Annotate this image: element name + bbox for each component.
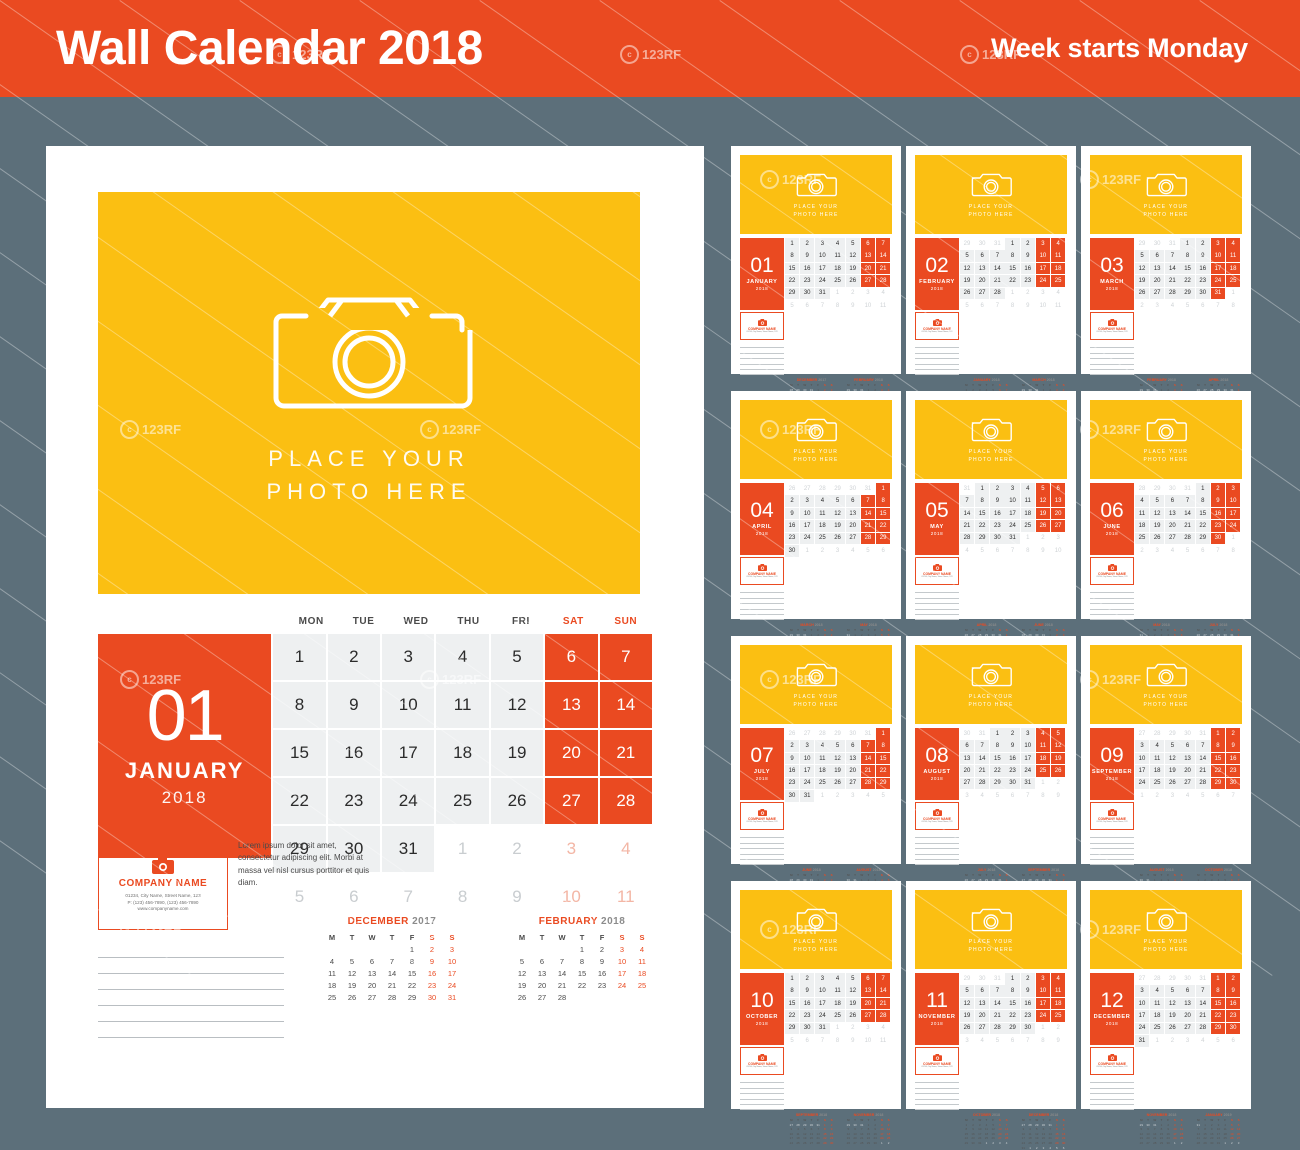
day-cell[interactable]: 29 [1196,533,1210,545]
day-cell[interactable]: 24 [1005,520,1019,532]
mini-day-cell[interactable]: 28 [858,1141,865,1146]
photo-placeholder[interactable]: PLACE YOURPHOTO HERE [740,890,892,969]
day-cell[interactable]: 2 [1226,973,1240,985]
photo-placeholder[interactable]: PLACE YOURPHOTO HERE [915,155,1067,234]
day-cell[interactable]: 1 [1005,238,1019,250]
mini-day-cell[interactable]: 1 [1172,1141,1179,1146]
day-cell[interactable]: 3 [1150,300,1164,312]
day-cell[interactable]: 17 [1211,263,1225,275]
day-cell[interactable]: 30 [1021,1023,1035,1035]
day-cell[interactable]: 9 [1051,790,1065,802]
day-cell[interactable]: 26 [491,778,543,824]
mini-day-cell[interactable]: 3 [1040,1145,1047,1150]
day-cell[interactable]: 2 [1021,973,1035,985]
day-cell[interactable]: 7 [1226,790,1240,802]
mini-day-cell[interactable]: 2 [990,1141,997,1146]
day-cell[interactable]: 10 [1135,753,1149,765]
day-cell[interactable]: 5 [960,985,974,997]
mini-day-cell[interactable]: 5 [1054,1145,1061,1150]
day-cell[interactable]: 9 [1021,300,1035,312]
day-cell[interactable]: 23 [1021,275,1035,287]
day-cell[interactable]: 21 [1180,520,1194,532]
mini-day-cell[interactable]: 20 [362,979,382,991]
day-cell[interactable]: 22 [785,1010,799,1022]
day-cell[interactable]: 8 [1180,250,1194,262]
mini-day-cell[interactable]: 26 [845,1141,852,1146]
day-cell[interactable]: 4 [1150,740,1164,752]
mini-day-cell[interactable]: 4 [322,955,342,967]
note-lines[interactable] [1090,1078,1134,1110]
note-line[interactable] [1090,615,1134,620]
day-cell[interactable]: 24 [1135,778,1149,790]
day-cell[interactable]: 19 [846,263,860,275]
day-cell[interactable]: 2 [1005,728,1019,740]
day-cell[interactable]: 8 [785,985,799,997]
day-cell[interactable]: 1 [815,790,829,802]
mini-day-cell[interactable]: 27 [532,991,552,1003]
day-cell[interactable]: 31 [1196,728,1210,740]
day-cell[interactable]: 13 [1150,263,1164,275]
mini-day-cell[interactable]: 2 [1229,1141,1236,1146]
day-cell[interactable]: 12 [491,682,543,728]
note-line[interactable] [915,1105,959,1110]
day-cell[interactable]: 27 [800,728,814,740]
day-cell[interactable]: 5 [1196,790,1210,802]
day-cell[interactable]: 6 [1051,483,1065,495]
day-cell[interactable]: 30 [800,288,814,300]
day-cell[interactable]: 26 [1150,533,1164,545]
day-cell[interactable]: 5 [990,790,1004,802]
note-line[interactable] [915,370,959,375]
day-cell[interactable]: 20 [1051,508,1065,520]
day-cell[interactable]: 5 [1051,728,1065,740]
day-cell[interactable]: 25 [815,533,829,545]
day-cell[interactable]: 22 [876,520,890,532]
mini-day-cell[interactable]: 26 [1138,1141,1145,1146]
day-cell[interactable]: 12 [960,998,974,1010]
mini-day-cell[interactable]: 2 [1033,1145,1040,1150]
day-cell[interactable]: 7 [1211,300,1225,312]
mini-day-cell[interactable]: 21 [382,979,402,991]
mini-day-cell[interactable]: 3 [442,943,462,955]
day-cell[interactable]: 29 [830,483,844,495]
day-cell[interactable]: 5 [1036,483,1050,495]
day-cell[interactable]: 12 [830,753,844,765]
mini-day-cell[interactable]: 30 [1208,1141,1215,1146]
mini-day-cell[interactable]: 19 [512,979,532,991]
day-cell[interactable]: 9 [1211,495,1225,507]
day-cell[interactable]: 1 [830,288,844,300]
mini-day-cell[interactable]: 17 [442,967,462,979]
day-cell[interactable]: 23 [1021,1010,1035,1022]
day-cell[interactable]: 7 [861,495,875,507]
day-cell[interactable]: 10 [800,753,814,765]
mini-day-cell[interactable] [362,943,382,955]
day-cell[interactable]: 10 [382,682,434,728]
day-cell[interactable]: 20 [861,263,875,275]
day-cell[interactable]: 6 [846,495,860,507]
day-cell[interactable]: 8 [785,250,799,262]
day-cell[interactable]: 13 [1051,495,1065,507]
day-cell[interactable]: 10 [861,1035,875,1047]
day-cell[interactable]: 28 [1165,288,1179,300]
mini-day-cell[interactable]: 7 [382,955,402,967]
day-cell[interactable]: 16 [785,520,799,532]
month-thumbnail-february[interactable]: PLACE YOURPHOTO HERE02FEBRUARY2018COMPAN… [906,146,1076,374]
day-cell[interactable]: 8 [830,300,844,312]
mini-day-cell[interactable]: 28 [552,991,572,1003]
day-cell[interactable]: 21 [990,275,1004,287]
day-cell[interactable]: 14 [1196,998,1210,1010]
day-cell[interactable]: 17 [1036,998,1050,1010]
mini-day-cell[interactable]: 8 [572,955,592,967]
day-cell[interactable]: 6 [1196,545,1210,557]
day-cell[interactable]: 5 [491,634,543,680]
note-line[interactable] [98,1022,284,1038]
mini-day-cell[interactable] [612,991,632,1003]
day-cell[interactable]: 6 [960,740,974,752]
day-cell[interactable]: 2 [1135,545,1149,557]
day-cell[interactable]: 7 [975,740,989,752]
day-cell[interactable]: 4 [975,1035,989,1047]
day-cell[interactable]: 25 [1021,520,1035,532]
day-cell[interactable]: 4 [600,826,652,872]
day-cell[interactable]: 2 [1226,728,1240,740]
day-cell[interactable]: 18 [1051,263,1065,275]
note-line[interactable] [1090,1105,1134,1110]
day-cell[interactable]: 5 [975,545,989,557]
day-cell[interactable]: 28 [1196,778,1210,790]
mini-day-cell[interactable]: 4 [632,943,652,955]
day-cell[interactable]: 2 [846,288,860,300]
note-line[interactable] [740,615,784,620]
day-cell[interactable]: 1 [800,545,814,557]
day-cell[interactable]: 29 [830,728,844,740]
day-cell[interactable]: 27 [975,288,989,300]
day-cell[interactable]: 6 [545,634,597,680]
day-cell[interactable]: 7 [990,250,1004,262]
day-cell[interactable]: 5 [1135,250,1149,262]
day-cell[interactable]: 19 [960,275,974,287]
day-cell[interactable]: 6 [1196,300,1210,312]
day-cell[interactable]: 5 [1211,1035,1225,1047]
day-cell[interactable]: 16 [1226,753,1240,765]
day-cell[interactable]: 2 [1021,288,1035,300]
month-thumbnail-july[interactable]: PLACE YOURPHOTO HERE07JULY2018COMPANY NA… [731,636,901,864]
day-cell[interactable]: 2 [1051,778,1065,790]
day-cell[interactable]: 16 [1211,508,1225,520]
mini-day-cell[interactable]: 14 [552,967,572,979]
day-cell[interactable]: 21 [861,765,875,777]
day-cell[interactable]: 11 [876,1035,890,1047]
day-cell[interactable]: 30 [1196,288,1210,300]
mini-day-cell[interactable] [512,943,532,955]
day-cell[interactable]: 8 [1036,1035,1050,1047]
day-cell[interactable]: 23 [990,520,1004,532]
day-cell[interactable]: 28 [876,1010,890,1022]
day-cell[interactable]: 13 [975,263,989,275]
day-cell[interactable]: 20 [846,765,860,777]
day-cell[interactable]: 3 [960,1035,974,1047]
mini-day-cell[interactable]: 12 [342,967,362,979]
day-cell[interactable]: 1 [785,973,799,985]
day-cell[interactable]: 1 [785,238,799,250]
day-cell[interactable]: 7 [1165,250,1179,262]
day-cell[interactable]: 24 [1036,1010,1050,1022]
day-cell[interactable]: 1 [1226,288,1240,300]
day-cell[interactable]: 25 [1051,275,1065,287]
day-cell[interactable]: 7 [1180,495,1194,507]
photo-placeholder[interactable]: PLACE YOURPHOTO HERE [915,400,1067,479]
day-cell[interactable]: 11 [1135,508,1149,520]
day-cell[interactable]: 5 [785,300,799,312]
day-cell[interactable]: 3 [815,973,829,985]
day-cell[interactable]: 4 [815,495,829,507]
day-cell[interactable]: 9 [1051,1035,1065,1047]
day-cell[interactable]: 16 [328,730,380,776]
day-cell[interactable]: 4 [876,288,890,300]
day-cell[interactable]: 22 [876,765,890,777]
day-cell[interactable]: 23 [800,1010,814,1022]
day-cell[interactable]: 16 [785,765,799,777]
note-lines[interactable] [915,833,959,865]
mini-day-cell[interactable]: 23 [592,979,612,991]
day-cell[interactable]: 31 [861,728,875,740]
day-cell[interactable]: 31 [975,728,989,740]
day-cell[interactable]: 12 [830,508,844,520]
day-cell[interactable]: 6 [1211,790,1225,802]
day-cell[interactable]: 13 [861,985,875,997]
day-cell[interactable]: 21 [1165,275,1179,287]
day-cell[interactable]: 21 [876,998,890,1010]
day-cell[interactable]: 7 [1005,545,1019,557]
note-lines[interactable] [1090,343,1134,375]
day-cell[interactable]: 17 [1135,765,1149,777]
day-cell[interactable]: 31 [1135,1035,1149,1047]
day-cell[interactable]: 30 [1165,483,1179,495]
note-line[interactable] [98,990,284,1006]
day-cell[interactable]: 25 [830,275,844,287]
day-cell[interactable]: 4 [1226,238,1240,250]
mini-day-cell[interactable]: 24 [442,979,462,991]
day-cell[interactable]: 11 [1150,753,1164,765]
day-cell[interactable]: 26 [960,288,974,300]
day-cell[interactable]: 25 [1036,765,1050,777]
day-cell[interactable]: 25 [436,778,488,824]
day-cell[interactable]: 15 [1005,263,1019,275]
day-cell[interactable]: 1 [1196,483,1210,495]
day-cell[interactable]: 3 [1150,545,1164,557]
day-cell[interactable]: 23 [328,778,380,824]
day-cell[interactable]: 23 [785,778,799,790]
day-cell[interactable]: 25 [815,778,829,790]
day-cell[interactable]: 26 [785,728,799,740]
day-cell[interactable]: 1 [975,483,989,495]
day-cell[interactable]: 10 [1211,250,1225,262]
day-cell[interactable]: 27 [846,778,860,790]
day-cell[interactable]: 1 [1036,1023,1050,1035]
mini-day-cell[interactable]: 29 [865,1141,872,1146]
day-cell[interactable]: 26 [846,275,860,287]
day-cell[interactable]: 5 [1165,740,1179,752]
day-cell[interactable]: 15 [273,730,325,776]
mini-day-cell[interactable]: 30 [422,991,442,1003]
day-cell[interactable]: 9 [1226,985,1240,997]
mini-day-cell[interactable]: 31 [442,991,462,1003]
day-cell[interactable]: 23 [800,275,814,287]
day-cell[interactable]: 18 [1150,1010,1164,1022]
day-cell[interactable]: 23 [1005,765,1019,777]
day-cell[interactable]: 1 [990,728,1004,740]
day-cell[interactable]: 1 [1021,533,1035,545]
day-cell[interactable]: 1 [876,728,890,740]
day-cell[interactable]: 14 [600,682,652,728]
day-cell[interactable]: 15 [990,753,1004,765]
day-cell[interactable]: 15 [1211,753,1225,765]
day-cell[interactable]: 24 [800,778,814,790]
day-cell[interactable]: 15 [975,508,989,520]
day-cell[interactable]: 12 [1150,508,1164,520]
day-cell[interactable]: 27 [1180,778,1194,790]
day-cell[interactable]: 28 [876,275,890,287]
day-cell[interactable]: 19 [1051,753,1065,765]
day-cell[interactable]: 14 [990,998,1004,1010]
mini-day-cell[interactable]: 17 [612,967,632,979]
mini-day-cell[interactable]: 6 [532,955,552,967]
day-cell[interactable]: 20 [1150,275,1164,287]
day-cell[interactable]: 3 [382,634,434,680]
day-cell[interactable]: 31 [1180,483,1194,495]
day-cell[interactable]: 2 [785,495,799,507]
day-cell[interactable]: 4 [1150,985,1164,997]
day-cell[interactable]: 27 [1135,973,1149,985]
day-cell[interactable]: 9 [1021,985,1035,997]
day-cell[interactable]: 23 [785,533,799,545]
day-cell[interactable]: 20 [1165,520,1179,532]
day-cell[interactable]: 21 [975,765,989,777]
day-cell[interactable]: 5 [1165,985,1179,997]
day-cell[interactable]: 2 [800,238,814,250]
day-cell[interactable]: 4 [1051,238,1065,250]
day-cell[interactable]: 11 [1051,985,1065,997]
day-cell[interactable]: 15 [1196,508,1210,520]
day-cell[interactable]: 27 [545,778,597,824]
day-cell[interactable]: 9 [1036,545,1050,557]
day-cell[interactable]: 29 [1150,483,1164,495]
day-cell[interactable]: 3 [1135,740,1149,752]
day-cell[interactable]: 13 [960,753,974,765]
day-cell[interactable]: 6 [1005,1035,1019,1047]
day-cell[interactable]: 18 [1021,508,1035,520]
day-cell[interactable]: 5 [830,495,844,507]
day-cell[interactable]: 17 [1021,753,1035,765]
day-cell[interactable]: 22 [1005,275,1019,287]
day-cell[interactable]: 11 [436,682,488,728]
day-cell[interactable]: 12 [1165,753,1179,765]
day-cell[interactable]: 9 [785,508,799,520]
day-cell[interactable]: 7 [1211,545,1225,557]
day-cell[interactable]: 22 [1196,520,1210,532]
day-cell[interactable]: 19 [1165,765,1179,777]
day-cell[interactable]: 12 [1051,740,1065,752]
day-cell[interactable]: 30 [785,790,799,802]
day-cell[interactable]: 13 [846,508,860,520]
day-cell[interactable]: 13 [975,998,989,1010]
day-cell[interactable]: 16 [990,508,1004,520]
day-cell[interactable]: 19 [1150,520,1164,532]
day-cell[interactable]: 22 [975,520,989,532]
day-cell[interactable]: 3 [1036,973,1050,985]
mini-day-cell[interactable]: 11 [632,955,652,967]
note-lines[interactable] [740,1078,784,1110]
day-cell[interactable]: 3 [1036,288,1050,300]
day-cell[interactable]: 9 [846,1035,860,1047]
mini-day-cell[interactable]: 27 [1145,1141,1152,1146]
day-cell[interactable]: 8 [1021,545,1035,557]
mini-day-cell[interactable]: 1 [983,1141,990,1146]
day-cell[interactable]: 28 [861,778,875,790]
mini-day-cell[interactable]: 26 [342,991,362,1003]
day-cell[interactable]: 10 [1036,300,1050,312]
day-cell[interactable]: 2 [800,973,814,985]
mini-day-cell[interactable]: 10 [612,955,632,967]
day-cell[interactable]: 8 [1211,740,1225,752]
day-cell[interactable]: 9 [785,753,799,765]
mini-day-cell[interactable]: 9 [422,955,442,967]
mini-day-cell[interactable]: 15 [572,967,592,979]
day-cell[interactable]: 6 [1165,495,1179,507]
day-cell[interactable]: 14 [876,250,890,262]
day-cell[interactable]: 2 [491,826,543,872]
day-cell[interactable]: 11 [1150,998,1164,1010]
mini-day-cell[interactable]: 31 [1020,1145,1027,1150]
mini-day-cell[interactable]: 15 [402,967,422,979]
day-cell[interactable]: 11 [1036,740,1050,752]
note-lines[interactable] [1090,588,1134,620]
day-cell[interactable]: 11 [1051,250,1065,262]
photo-placeholder[interactable]: PLACE YOURPHOTO HERE [915,645,1067,724]
day-cell[interactable]: 12 [1135,263,1149,275]
mini-day-cell[interactable] [632,991,652,1003]
note-line[interactable] [98,942,284,958]
day-cell[interactable]: 27 [1051,520,1065,532]
day-cell[interactable]: 1 [1211,973,1225,985]
photo-placeholder[interactable]: PLACE YOURPHOTO HERE [1090,890,1242,969]
day-cell[interactable]: 20 [861,998,875,1010]
mini-day-cell[interactable]: 24 [788,1141,795,1146]
day-cell[interactable]: 21 [861,520,875,532]
mini-day-cell[interactable]: 29 [1202,1141,1209,1146]
day-cell[interactable]: 2 [328,634,380,680]
day-cell[interactable]: 3 [800,495,814,507]
day-cell[interactable]: 28 [1135,483,1149,495]
day-cell[interactable]: 4 [846,545,860,557]
day-cell[interactable]: 3 [1180,1035,1194,1047]
day-cell[interactable]: 29 [960,973,974,985]
day-cell[interactable]: 24 [1226,520,1240,532]
day-cell[interactable]: 12 [846,985,860,997]
day-cell[interactable]: 4 [1051,973,1065,985]
day-cell[interactable]: 5 [960,300,974,312]
day-cell[interactable]: 7 [1196,740,1210,752]
day-cell[interactable]: 11 [830,250,844,262]
day-cell[interactable]: 20 [1180,1010,1194,1022]
day-cell[interactable]: 28 [1196,1023,1210,1035]
day-cell[interactable]: 4 [1135,495,1149,507]
mini-day-cell[interactable]: 12 [512,967,532,979]
day-cell[interactable]: 10 [1036,250,1050,262]
day-cell[interactable]: 6 [1180,985,1194,997]
